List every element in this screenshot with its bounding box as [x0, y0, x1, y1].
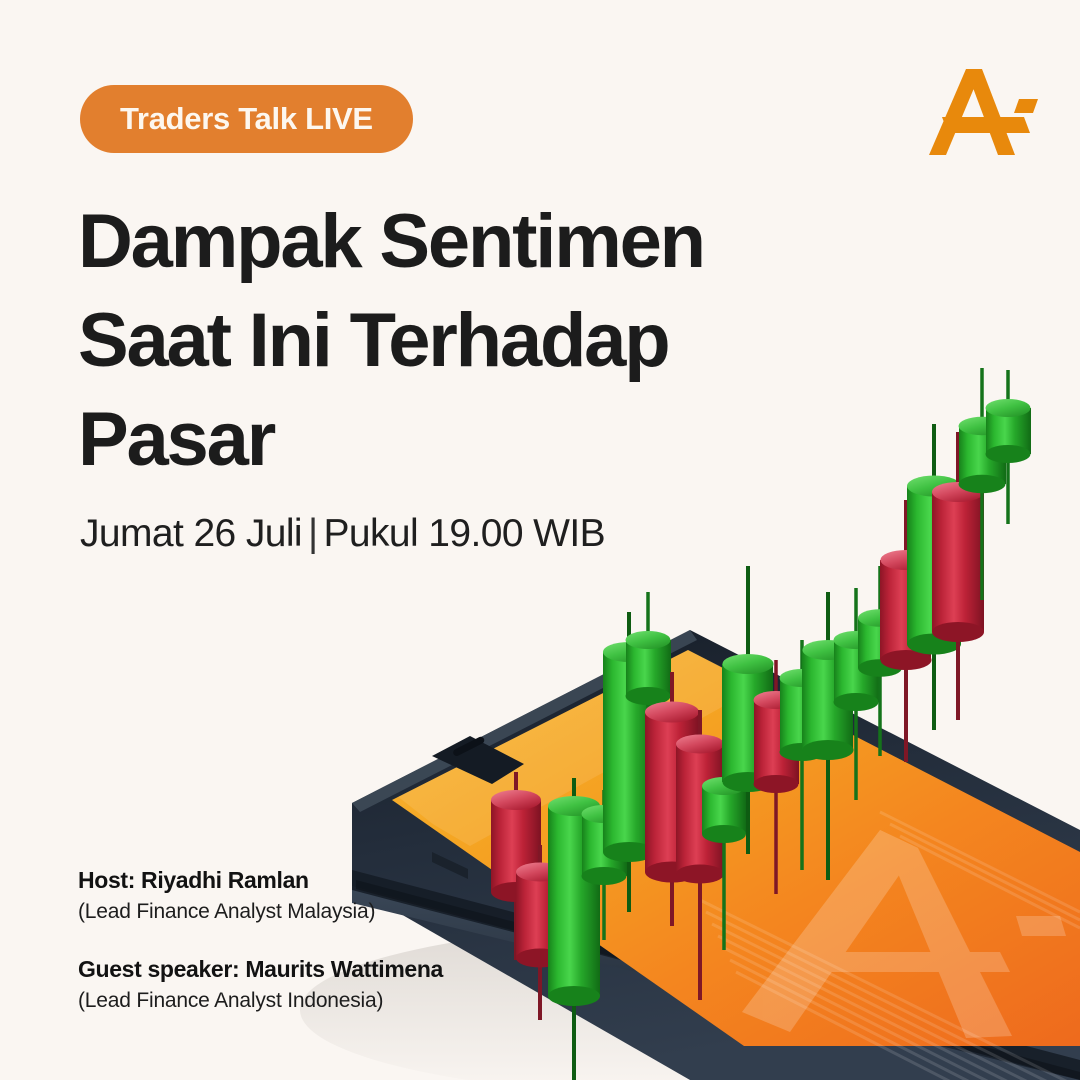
event-date: Jumat 26 Juli: [80, 512, 302, 555]
host-role: (Lead Finance Analyst Malaysia): [78, 899, 598, 925]
headline-line-1: Dampak Sentimen: [78, 192, 838, 291]
event-time: Pukul 19.00 WIB: [324, 512, 605, 555]
schedule-separator: |: [302, 512, 324, 555]
guest-credit: Guest speaker: Maurits Wattimena (Lead F…: [78, 955, 598, 1014]
event-schedule: Jumat 26 Juli|Pukul 19.00 WIB: [80, 512, 605, 556]
headline-line-2: Saat Ini Terhadap: [78, 291, 838, 390]
speaker-credits: Host: Riyadhi Ramlan (Lead Finance Analy…: [78, 866, 598, 1014]
ascend-a-logo-icon: [920, 55, 1040, 165]
poster-canvas: Traders Talk LIVE Dampak Sentimen Saat I…: [0, 0, 1080, 1080]
candle-bullish: [986, 370, 1032, 524]
brand-logo: [920, 55, 1040, 165]
host-credit: Host: Riyadhi Ramlan (Lead Finance Analy…: [78, 866, 598, 925]
guest-role: (Lead Finance Analyst Indonesia): [78, 988, 598, 1014]
page-title: Dampak Sentimen Saat Ini Terhadap Pasar: [78, 192, 838, 489]
guest-name: Guest speaker: Maurits Wattimena: [78, 955, 598, 984]
live-badge: Traders Talk LIVE: [80, 85, 413, 153]
headline-line-3: Pasar: [78, 390, 838, 489]
live-badge-label: Traders Talk LIVE: [120, 101, 373, 137]
host-name: Host: Riyadhi Ramlan: [78, 866, 598, 895]
